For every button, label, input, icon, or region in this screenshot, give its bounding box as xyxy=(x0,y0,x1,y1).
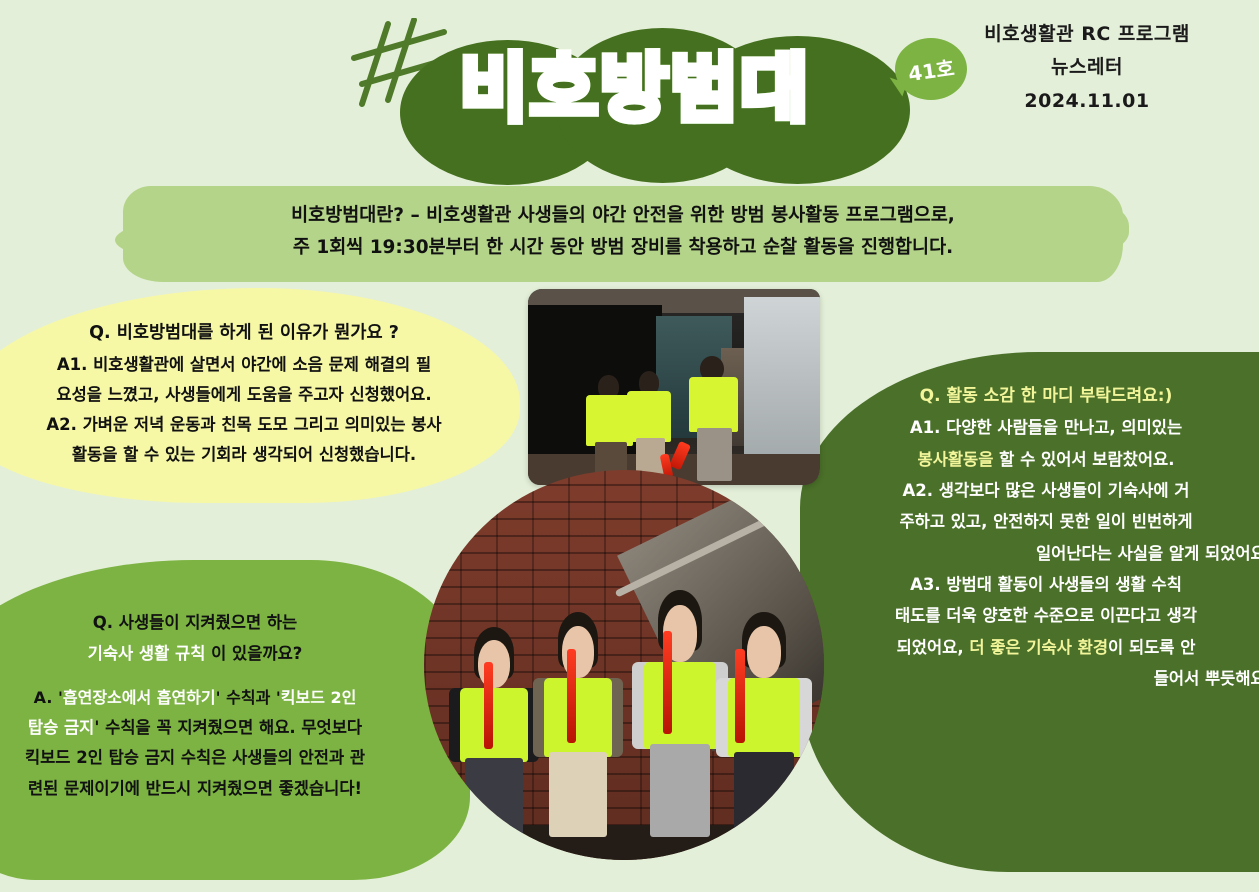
group-member-2 xyxy=(544,603,612,837)
qa-green-left-text: Q. 사생들이 지켜줬으면 하는 기숙사 생활 규칙 이 있을까요? A. '흡… xyxy=(0,608,430,804)
qa-green-left-answer-highlight-1: 흡연장소에서 흡연하기 xyxy=(63,688,216,707)
qa-green-right-answer3-line3: 되었어요, 더 좋은 기숙사 환경이 되도록 안 xyxy=(820,632,1259,663)
qa-green-left-answer-prefix: A. ' xyxy=(34,688,63,707)
qa-green-right-answer3-prefix: 되었어요, xyxy=(897,638,970,657)
logo-title-label: 비호방범대 xyxy=(460,46,810,132)
member-1-head xyxy=(478,640,511,688)
qa-yellow-text: Q. 비호방범대를 하게 된 이유가 뭔가요 ? A1. 비호생활관에 살면서 … xyxy=(8,318,480,470)
group-member-3 xyxy=(644,579,716,836)
poster-canvas: 비호생활관 RC 프로그램 뉴스레터 2024.11.01 비호방범대 41호 … xyxy=(0,0,1259,892)
member-3-vest xyxy=(644,662,716,750)
qa-green-left-question-line1: Q. 사생들이 지켜줬으면 하는 xyxy=(0,608,430,639)
member-3-legs xyxy=(650,744,710,837)
member-2-baton xyxy=(567,649,576,743)
header-date: 2024.11.01 xyxy=(937,85,1237,118)
logo-title-text: 비호방범대 xyxy=(355,52,915,126)
qa-yellow-question: Q. 비호방범대를 하게 된 이유가 뭔가요 ? xyxy=(8,318,480,350)
qa-green-left-answer-highlight-2: 킥보드 2인 xyxy=(281,688,357,707)
qa-yellow-answer1-line2: 요성을 느꼈고, 사생들에게 도움을 주고자 신청했어요. xyxy=(8,380,480,410)
photo-night-patrol-scene xyxy=(528,289,820,485)
qa-green-right-answer2-line2: 주하고 있고, 안전하지 못한 일이 빈번하게 xyxy=(820,506,1259,537)
qa-green-right-answer3-line4: 들어서 뿌듯해요. xyxy=(820,663,1259,694)
qa-green-left-answer-line3: 킥보드 2인 탑승 금지 수칙은 사생들의 안전과 관 xyxy=(0,743,430,774)
title-logo: 비호방범대 xyxy=(355,18,915,183)
program-description-banner: 비호방범대란? – 비호생활관 사생들의 야간 안전을 위한 방범 봉사활동 프… xyxy=(123,186,1123,282)
qa-green-right-question: Q. 활동 소감 한 마디 부탁드려요:) xyxy=(820,380,1259,412)
qa-yellow-answer2-line1: A2. 가벼운 저녁 운동과 친목 도모 그리고 의미있는 봉사 xyxy=(8,410,480,440)
member-1-baton xyxy=(484,662,493,749)
tiled-panel-shape xyxy=(744,297,820,477)
qa-green-left-answer-mid: ' 수칙과 ' xyxy=(216,688,281,707)
qa-green-left-answer-line2-tail: ' 수칙을 꼭 지켜줬으면 해요. 무엇보다 xyxy=(94,718,362,737)
qa-green-left-answer-line2: 탑승 금지' 수칙을 꼭 지켜줬으면 해요. 무엇보다 xyxy=(0,713,430,744)
qa-green-right-answer3-line2: 태도를 더욱 양호한 수준으로 이끈다고 생각 xyxy=(820,600,1259,631)
member-4-legs xyxy=(734,752,794,836)
banner-text: 비호방범대란? – 비호생활관 사생들의 야간 안전을 위한 방범 봉사활동 프… xyxy=(123,200,1123,265)
patrol-vest-1 xyxy=(586,395,633,446)
banner-line-1: 비호방범대란? – 비호생활관 사생들의 야간 안전을 위한 방범 봉사활동 프… xyxy=(123,200,1123,232)
qa-green-right-answer3-line1: A3. 방범대 활동이 사생들의 생활 수칙 xyxy=(820,569,1259,600)
group-member-1 xyxy=(460,618,528,836)
group-member-4 xyxy=(728,603,800,837)
patrol-vest-2 xyxy=(627,391,671,442)
qa-green-right-answer1-tail: 할 수 있어서 보람찼어요. xyxy=(993,450,1174,469)
member-2-vest xyxy=(544,678,612,758)
member-4-head xyxy=(747,626,782,677)
header-block: 비호생활관 RC 프로그램 뉴스레터 2024.11.01 xyxy=(937,18,1237,118)
member-1-vest xyxy=(460,688,528,762)
issue-number-label: 41호 xyxy=(906,51,956,86)
qa-green-right-answer1-line1: A1. 다양한 사람들을 만나고, 의미있는 xyxy=(820,412,1259,443)
qa-yellow-answer1-line1: A1. 비호생활관에 살면서 야간에 소음 문제 해결의 필 xyxy=(8,350,480,380)
qa-green-right-block: Q. 활동 소감 한 마디 부탁드려요:) A1. 다양한 사람들을 만나고, … xyxy=(800,352,1259,872)
member-2-legs xyxy=(549,752,606,836)
qa-green-right-answer2-line1: A2. 생각보다 많은 사생들이 기숙사에 거 xyxy=(820,475,1259,506)
issue-number-badge: 41호 xyxy=(895,38,967,100)
qa-green-left-answer-highlight-3: 탑승 금지 xyxy=(28,718,94,737)
qa-green-left-block: Q. 사생들이 지켜줬으면 하는 기숙사 생활 규칙 이 있을까요? A. '흡… xyxy=(0,560,470,880)
header-program-name: 비호생활관 RC 프로그램 xyxy=(937,18,1237,51)
qa-green-right-answer2-line3: 일어난다는 사실을 알게 되었어요. xyxy=(820,538,1259,569)
qa-green-right-text: Q. 활동 소감 한 마디 부탁드려요:) A1. 다양한 사람들을 만나고, … xyxy=(820,380,1259,694)
member-3-baton xyxy=(663,631,672,734)
qa-yellow-answer2-line2: 활동을 할 수 있는 기회라 생각되어 신청했습니다. xyxy=(8,440,480,470)
qa-green-right-answer1-line2: 봉사활동을 할 수 있어서 보람찼어요. xyxy=(820,444,1259,475)
qa-green-right-answer3-tail: 이 되도록 안 xyxy=(1108,638,1195,657)
header-newsletter-label: 뉴스레터 xyxy=(937,51,1237,84)
qa-green-right-answer3-highlight: 더 좋은 기숙사 환경 xyxy=(969,638,1108,657)
qa-green-left-answer-line4: 련된 문제이기에 반드시 지켜줬으면 좋겠습니다! xyxy=(0,774,430,805)
photo-group-shot-scene xyxy=(424,470,824,860)
qa-green-right-answer1-highlight: 봉사활동을 xyxy=(918,450,994,469)
member-1-legs xyxy=(465,758,522,837)
photo-night-patrol xyxy=(528,289,820,485)
qa-green-left-question-highlight: 기숙사 생활 규칙 xyxy=(88,644,206,663)
banner-line-2: 주 1회씩 19:30분부터 한 시간 동안 방범 장비를 착용하고 순찰 활동… xyxy=(123,232,1123,264)
patrol-vest-3 xyxy=(689,377,739,432)
qa-green-left-question-tail: 이 있을까요? xyxy=(205,644,302,663)
photo-group-shot xyxy=(424,470,824,860)
member-4-baton xyxy=(735,649,744,743)
qa-green-left-answer-line1: A. '흡연장소에서 흡연하기' 수칙과 '킥보드 2인 xyxy=(0,683,430,713)
qa-green-left-question-line2: 기숙사 생활 규칙 이 있을까요? xyxy=(0,639,430,670)
